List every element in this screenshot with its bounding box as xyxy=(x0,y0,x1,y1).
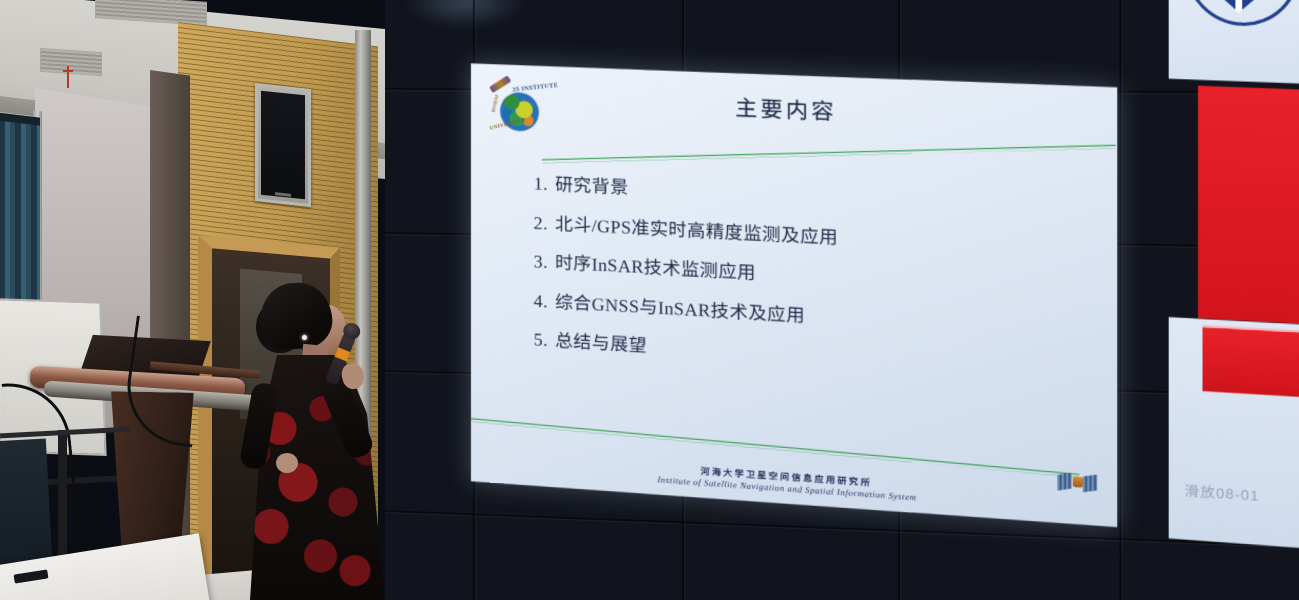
bullet-text: 总结与展望 xyxy=(555,330,647,356)
microphone-band xyxy=(334,347,350,361)
speaker-grille xyxy=(261,91,305,200)
satellite-panel-left xyxy=(1057,473,1071,491)
presenter-left-hand xyxy=(276,453,298,473)
satellite-panel-right xyxy=(1083,474,1097,492)
slide-content: 3S INSTITUTE UNIVERSITY HOHAI 主要内容 1.研究背… xyxy=(471,63,1117,527)
bullet-text: 综合GNSS与InSAR技术及应用 xyxy=(555,291,805,325)
slide-title: 主要内容 xyxy=(471,82,1117,138)
presenter xyxy=(232,283,397,600)
red-banner-block-lower xyxy=(1203,325,1299,402)
list-item: 5.总结与展望 xyxy=(534,331,1086,382)
bullet-text: 研究背景 xyxy=(555,174,629,198)
presenter-earring xyxy=(302,335,307,340)
presenter-hair xyxy=(258,281,334,352)
videowall-seam-v4 xyxy=(1119,0,1121,600)
slide-footer: 河海大学卫星空间信息应用研究所 Institute of Satellite N… xyxy=(471,449,1117,516)
bullet-text: 北斗/GPS准实时高精度监测及应用 xyxy=(555,213,838,247)
videowall-seam-h4 xyxy=(385,510,1299,550)
lcd-video-wall: 3S INSTITUTE UNIVERSITY HOHAI 主要内容 1.研究背… xyxy=(385,0,1299,600)
list-item: 1.研究背景 xyxy=(534,175,1086,219)
slide-top-divider xyxy=(542,145,1116,161)
red-banner-block xyxy=(1198,86,1299,329)
bullet-number: 4. xyxy=(534,292,548,311)
presentation-slide[interactable]: 3S INSTITUTE UNIVERSITY HOHAI 主要内容 1.研究背… xyxy=(471,63,1117,527)
secondary-panel-crest[interactable]: S xyxy=(1169,0,1299,87)
ceiling-red-marker xyxy=(67,66,69,88)
list-item: 2.北斗/GPS准实时高精度监测及应用 xyxy=(534,214,1086,259)
bullet-number: 1. xyxy=(534,175,548,193)
wall-light-reflection xyxy=(405,0,526,28)
bullet-number: 5. xyxy=(534,331,548,350)
screenshot-root: 3S INSTITUTE UNIVERSITY HOHAI 主要内容 1.研究背… xyxy=(0,0,1299,600)
satellite-body xyxy=(1073,476,1083,487)
crest-outer-ring xyxy=(1184,0,1299,28)
bullet-text: 时序InSAR技术监测应用 xyxy=(555,252,756,283)
list-item: 3.时序InSAR技术监测应用 xyxy=(534,253,1086,300)
bullet-number: 3. xyxy=(534,253,548,271)
wall-speaker xyxy=(255,83,311,207)
bullet-number: 2. xyxy=(534,214,548,232)
slide-bullet-list: 1.研究背景 2.北斗/GPS准实时高精度监测及应用 3.时序InSAR技术监测… xyxy=(534,175,1086,404)
